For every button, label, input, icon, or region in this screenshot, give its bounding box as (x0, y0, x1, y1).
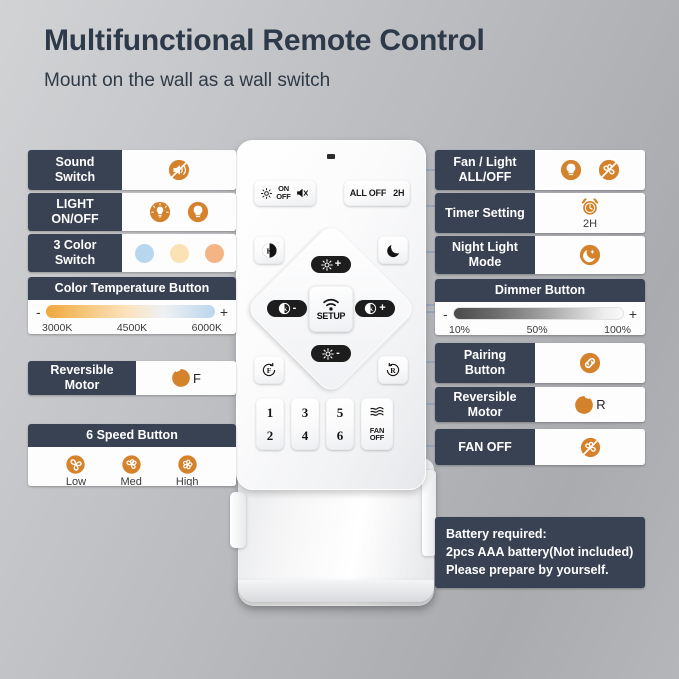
speed-high: High (176, 454, 199, 486)
callout-fan-off[interactable]: FAN OFF (435, 429, 645, 465)
speed-high-caption: High (176, 476, 199, 486)
callout-fan-light-all-off[interactable]: Fan / LightALL/OFF (435, 150, 645, 190)
remote-control-device: ONOFF ALL OFF 2H K (232, 140, 438, 610)
battery-requirement-note: Battery required: 2pcs AAA battery(Not i… (435, 517, 645, 588)
speed-icon-row: Low Med High (65, 454, 198, 486)
callout-color-temperature-button[interactable]: Color Temperature Button - + 3000K 4500K… (28, 277, 236, 334)
brightness-icon (321, 259, 333, 271)
ir-emitter-icon (327, 154, 335, 159)
key-light-onoff-mute[interactable]: ONOFF (254, 180, 316, 206)
alarm-clock-icon (580, 197, 600, 217)
rotate-reverse-icon: R (384, 361, 402, 379)
speed-med: Med (120, 454, 141, 486)
speaker-mute-icon (168, 159, 190, 181)
callout-night-light-mode-label: Night LightMode (435, 236, 535, 274)
timer-caption: 2H (583, 218, 597, 230)
key-speed-3-4[interactable]: 3 4 (291, 398, 319, 450)
callout-sound-switch[interactable]: SoundSwitch (28, 150, 236, 190)
key-alloff-label: ALL OFF (350, 188, 386, 198)
battery-note-line2: 2pcs AAA battery(Not included) (446, 544, 634, 562)
color-temperature-gradient-bar (46, 305, 215, 318)
dimmer-tick-100: 100% (604, 324, 631, 335)
svg-text:R: R (390, 366, 396, 375)
callout-timer-setting[interactable]: Timer Setting 2H (435, 193, 645, 233)
key-color-temp-down-label: - (293, 303, 297, 314)
color-temperature-slider[interactable]: - + (36, 305, 228, 319)
color-k-icon: K (364, 302, 377, 315)
speed-low-caption: Low (66, 476, 86, 486)
moon-star-icon (385, 242, 402, 259)
key-color-switch-k[interactable]: K (254, 236, 284, 264)
key-motor-reverse[interactable]: R (378, 356, 408, 384)
fan-low-icon (65, 454, 86, 475)
key-speed-4-label: 4 (302, 428, 309, 444)
svg-text:F: F (267, 366, 272, 375)
temp-tick-4500k: 4500K (117, 322, 147, 334)
remote-body: ONOFF ALL OFF 2H K (236, 140, 426, 490)
temp-tick-3000k: 3000K (42, 322, 72, 334)
key-speed-5-6[interactable]: 5 6 (326, 398, 354, 450)
callout-pairing-button[interactable]: PairingButton (435, 343, 645, 383)
key-setup-pairing[interactable]: SETUP (309, 286, 353, 332)
key-brightness-up-label: + (335, 259, 341, 270)
fan-med-icon (121, 454, 142, 475)
dimmer-gradient-bar (453, 307, 624, 320)
callout-six-speed-button[interactable]: 6 Speed Button Low Med High (28, 424, 236, 486)
color-swatch-warm (205, 244, 224, 263)
wifi-signal-icon (321, 297, 341, 311)
callout-fan-light-all-off-label: Fan / LightALL/OFF (435, 150, 535, 190)
dimmer-plus-label: + (629, 307, 637, 321)
cradle-lip (238, 580, 434, 602)
dimmer-tick-50: 50% (527, 324, 548, 335)
brightness-icon (322, 348, 334, 360)
key-light-onoff-label: ONOFF (276, 185, 290, 200)
rotate-forward-icon (171, 368, 191, 388)
key-speed-3-label: 3 (302, 405, 309, 421)
color-swatch-neutral (170, 244, 189, 263)
cradle-tab-right (422, 470, 436, 556)
key-motor-forward[interactable]: F (254, 356, 284, 384)
key-speed-1-2[interactable]: 1 2 (256, 398, 284, 450)
rotate-forward-suffix: F (193, 371, 201, 386)
svg-text:K: K (369, 307, 374, 313)
timer-badge: 2H (580, 197, 600, 230)
callout-light-on-off-label: LIGHTON/OFF (28, 193, 122, 231)
rotate-forward-icon: F (260, 361, 278, 379)
key-color-temp-up-label: + (379, 303, 385, 314)
fan-crossed-icon (598, 159, 620, 181)
speed-low: Low (65, 454, 86, 486)
svg-text:K: K (266, 246, 272, 255)
rotate-forward-badge: F (171, 368, 201, 388)
rotate-reverse-badge: R (574, 395, 605, 415)
callout-three-color-switch[interactable]: 3 ColorSwitch (28, 234, 236, 272)
callout-reversible-motor-forward[interactable]: Reversible Motor F (28, 361, 236, 395)
key-setup-label: SETUP (317, 311, 346, 321)
key-speed-5-label: 5 (337, 405, 344, 421)
callout-dimmer-title: Dimmer Button (435, 279, 645, 302)
cradle-tab-left (230, 492, 246, 548)
dimmer-minus-label: - (443, 307, 448, 321)
callout-color-temperature-title: Color Temperature Button (28, 277, 236, 300)
temp-minus-label: - (36, 305, 41, 319)
rotate-reverse-icon (574, 395, 594, 415)
key-fanoff-label: FANOFF (370, 427, 384, 442)
callout-reversible-motor-forward-label: Reversible Motor (28, 361, 136, 395)
dimmer-ticks: 10% 50% 100% (443, 324, 637, 335)
color-k-icon: K (278, 302, 291, 315)
key-timer-2h-label: 2H (393, 188, 404, 198)
color-temperature-ticks: 3000K 4500K 6000K (36, 322, 228, 334)
callout-three-color-switch-label: 3 ColorSwitch (28, 234, 122, 272)
fan-high-icon (177, 454, 198, 475)
sun-icon (261, 188, 272, 199)
key-brightness-up[interactable]: + (311, 256, 351, 273)
bulb-off-icon (187, 201, 209, 223)
fan-crossed-icon (580, 437, 601, 458)
key-night-light[interactable] (378, 236, 408, 264)
callout-sound-switch-label: SoundSwitch (28, 150, 122, 190)
key-alloff-timer[interactable]: ALL OFF 2H (344, 180, 410, 206)
temp-tick-6000k: 6000K (192, 322, 222, 334)
callout-six-speed-title: 6 Speed Button (28, 424, 236, 447)
key-brightness-down[interactable]: - (311, 345, 351, 362)
svg-text:K: K (282, 307, 287, 313)
dimmer-slider[interactable]: - + (443, 307, 637, 321)
temp-plus-label: + (220, 305, 228, 319)
key-breeze-fanoff[interactable]: FANOFF (361, 398, 393, 450)
speed-med-caption: Med (120, 476, 141, 486)
callout-dimmer-button[interactable]: Dimmer Button - + 10% 50% 100% (435, 279, 645, 335)
key-speed-6-label: 6 (337, 428, 344, 444)
speaker-mute-icon (295, 187, 309, 199)
callout-night-light-mode[interactable]: Night LightMode (435, 236, 645, 274)
color-k-icon: K (261, 242, 278, 259)
breeze-wave-icon (369, 406, 385, 417)
chain-link-icon (579, 352, 601, 374)
key-speed-1-label: 1 (267, 405, 274, 421)
battery-note-line3: Please prepare by yourself. (446, 562, 634, 580)
bulb-on-icon (149, 201, 171, 223)
callout-reversible-motor-reverse[interactable]: Reversible Motor R (435, 387, 645, 422)
moon-star-icon (579, 244, 601, 266)
key-brightness-down-label: - (336, 348, 340, 359)
color-swatch-cool (135, 244, 154, 263)
key-speed-2-label: 2 (267, 428, 274, 444)
dimmer-tick-10: 10% (449, 324, 470, 335)
callout-light-on-off[interactable]: LIGHTON/OFF (28, 193, 236, 231)
callout-fan-off-label: FAN OFF (435, 429, 535, 465)
key-color-temp-up[interactable]: K + (355, 300, 395, 317)
battery-note-line1: Battery required: (446, 526, 634, 544)
rotate-reverse-suffix: R (596, 397, 605, 412)
bulb-off-icon (560, 159, 582, 181)
key-color-temp-down[interactable]: K - (267, 300, 307, 317)
callout-reversible-motor-reverse-label: Reversible Motor (435, 387, 535, 422)
callout-timer-setting-label: Timer Setting (435, 193, 535, 233)
callout-pairing-button-label: PairingButton (435, 343, 535, 383)
